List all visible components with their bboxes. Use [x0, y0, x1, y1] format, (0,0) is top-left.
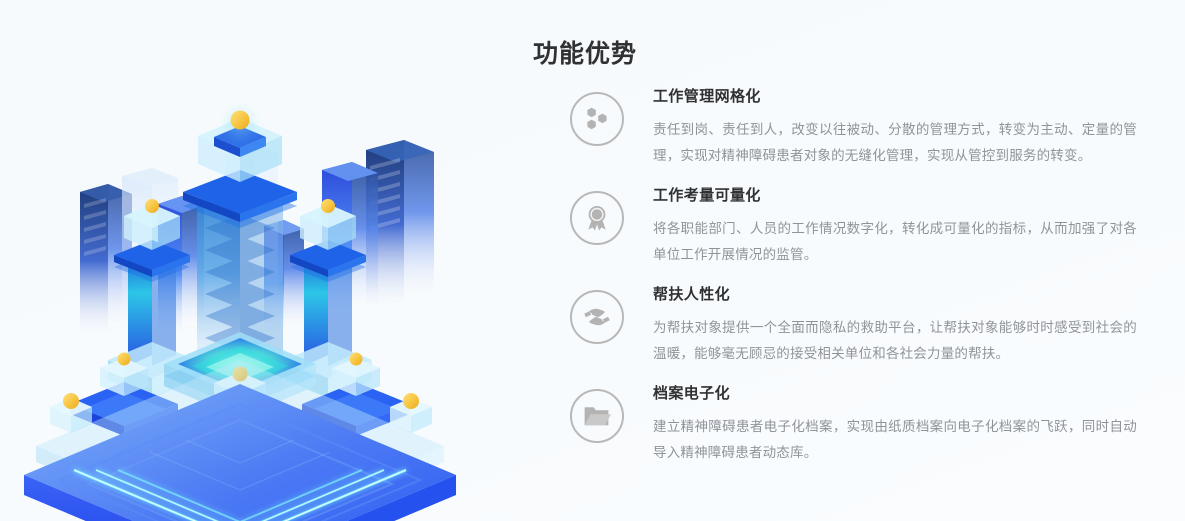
feature-item-4[interactable]: 档案电子化 建立精神障碍患者电子化档案，实现由纸质档案向电子化档案的飞跃，同时自…: [533, 383, 1185, 466]
right-pod-sphere: [350, 353, 363, 366]
feature-title-2: 工作考量可量化: [653, 185, 1185, 207]
tower-top-sphere: [231, 111, 250, 130]
feature-title-4: 档案电子化: [653, 383, 1185, 405]
isometric-smart-city-illustration: [0, 0, 500, 521]
feature-desc-2: 将各职能部门、人员的工作情况数字化，转化成可量化的指标，从而加强了对各单位工作开…: [653, 216, 1137, 268]
feature-desc-1: 责任到岗、责任到人，改变以往被动、分散的管理方式，转变为主动、定量的管理，实现对…: [653, 117, 1137, 169]
left-pillar-sphere: [145, 199, 159, 213]
award-medal-icon: [570, 191, 624, 245]
features-content: 功能优势 工作管理网格化 责任到岗、责任到人，改变以往被动、分散的管理方式，转: [533, 0, 1185, 521]
feature-title-3: 帮扶人性化: [653, 284, 1185, 306]
feature-item-1[interactable]: 工作管理网格化 责任到岗、责任到人，改变以往被动、分散的管理方式，转变为主动、定…: [533, 86, 1185, 169]
hexagon-cluster-icon: [570, 92, 624, 146]
folder-open-icon: [570, 389, 624, 443]
page-title: 功能优势: [533, 37, 637, 71]
feature-title-1: 工作管理网格化: [653, 86, 1185, 108]
feature-list: 工作管理网格化 责任到岗、责任到人，改变以往被动、分散的管理方式，转变为主动、定…: [533, 86, 1185, 466]
feature-desc-4: 建立精神障碍患者电子化档案，实现由纸质档案向电子化档案的飞跃，同时自动导入精神障…: [653, 414, 1137, 466]
left-pod-sphere: [118, 353, 131, 366]
illustration-panel: [0, 0, 500, 521]
feature-body-4: 档案电子化 建立精神障碍患者电子化档案，实现由纸质档案向电子化档案的飞跃，同时自…: [653, 383, 1185, 466]
feature-item-3[interactable]: 帮扶人性化 为帮扶对象提供一个全面而隐私的救助平台，让帮扶对象能够时时感受到社会…: [533, 284, 1185, 367]
feature-desc-3: 为帮扶对象提供一个全面而隐私的救助平台，让帮扶对象能够时时感受到社会的温暖，能够…: [653, 315, 1137, 367]
feature-body-2: 工作考量可量化 将各职能部门、人员的工作情况数字化，转化成可量化的指标，从而加强…: [653, 185, 1185, 268]
feature-body-1: 工作管理网格化 责任到岗、责任到人，改变以往被动、分散的管理方式，转变为主动、定…: [653, 86, 1185, 169]
helping-hands-icon: [570, 290, 624, 344]
feature-advantages-page: 功能优势 工作管理网格化 责任到岗、责任到人，改变以往被动、分散的管理方式，转: [0, 0, 1185, 521]
feature-body-3: 帮扶人性化 为帮扶对象提供一个全面而隐私的救助平台，让帮扶对象能够时时感受到社会…: [653, 284, 1185, 367]
right-pillar-sphere: [321, 199, 335, 213]
feature-item-2[interactable]: 工作考量可量化 将各职能部门、人员的工作情况数字化，转化成可量化的指标，从而加强…: [533, 185, 1185, 268]
